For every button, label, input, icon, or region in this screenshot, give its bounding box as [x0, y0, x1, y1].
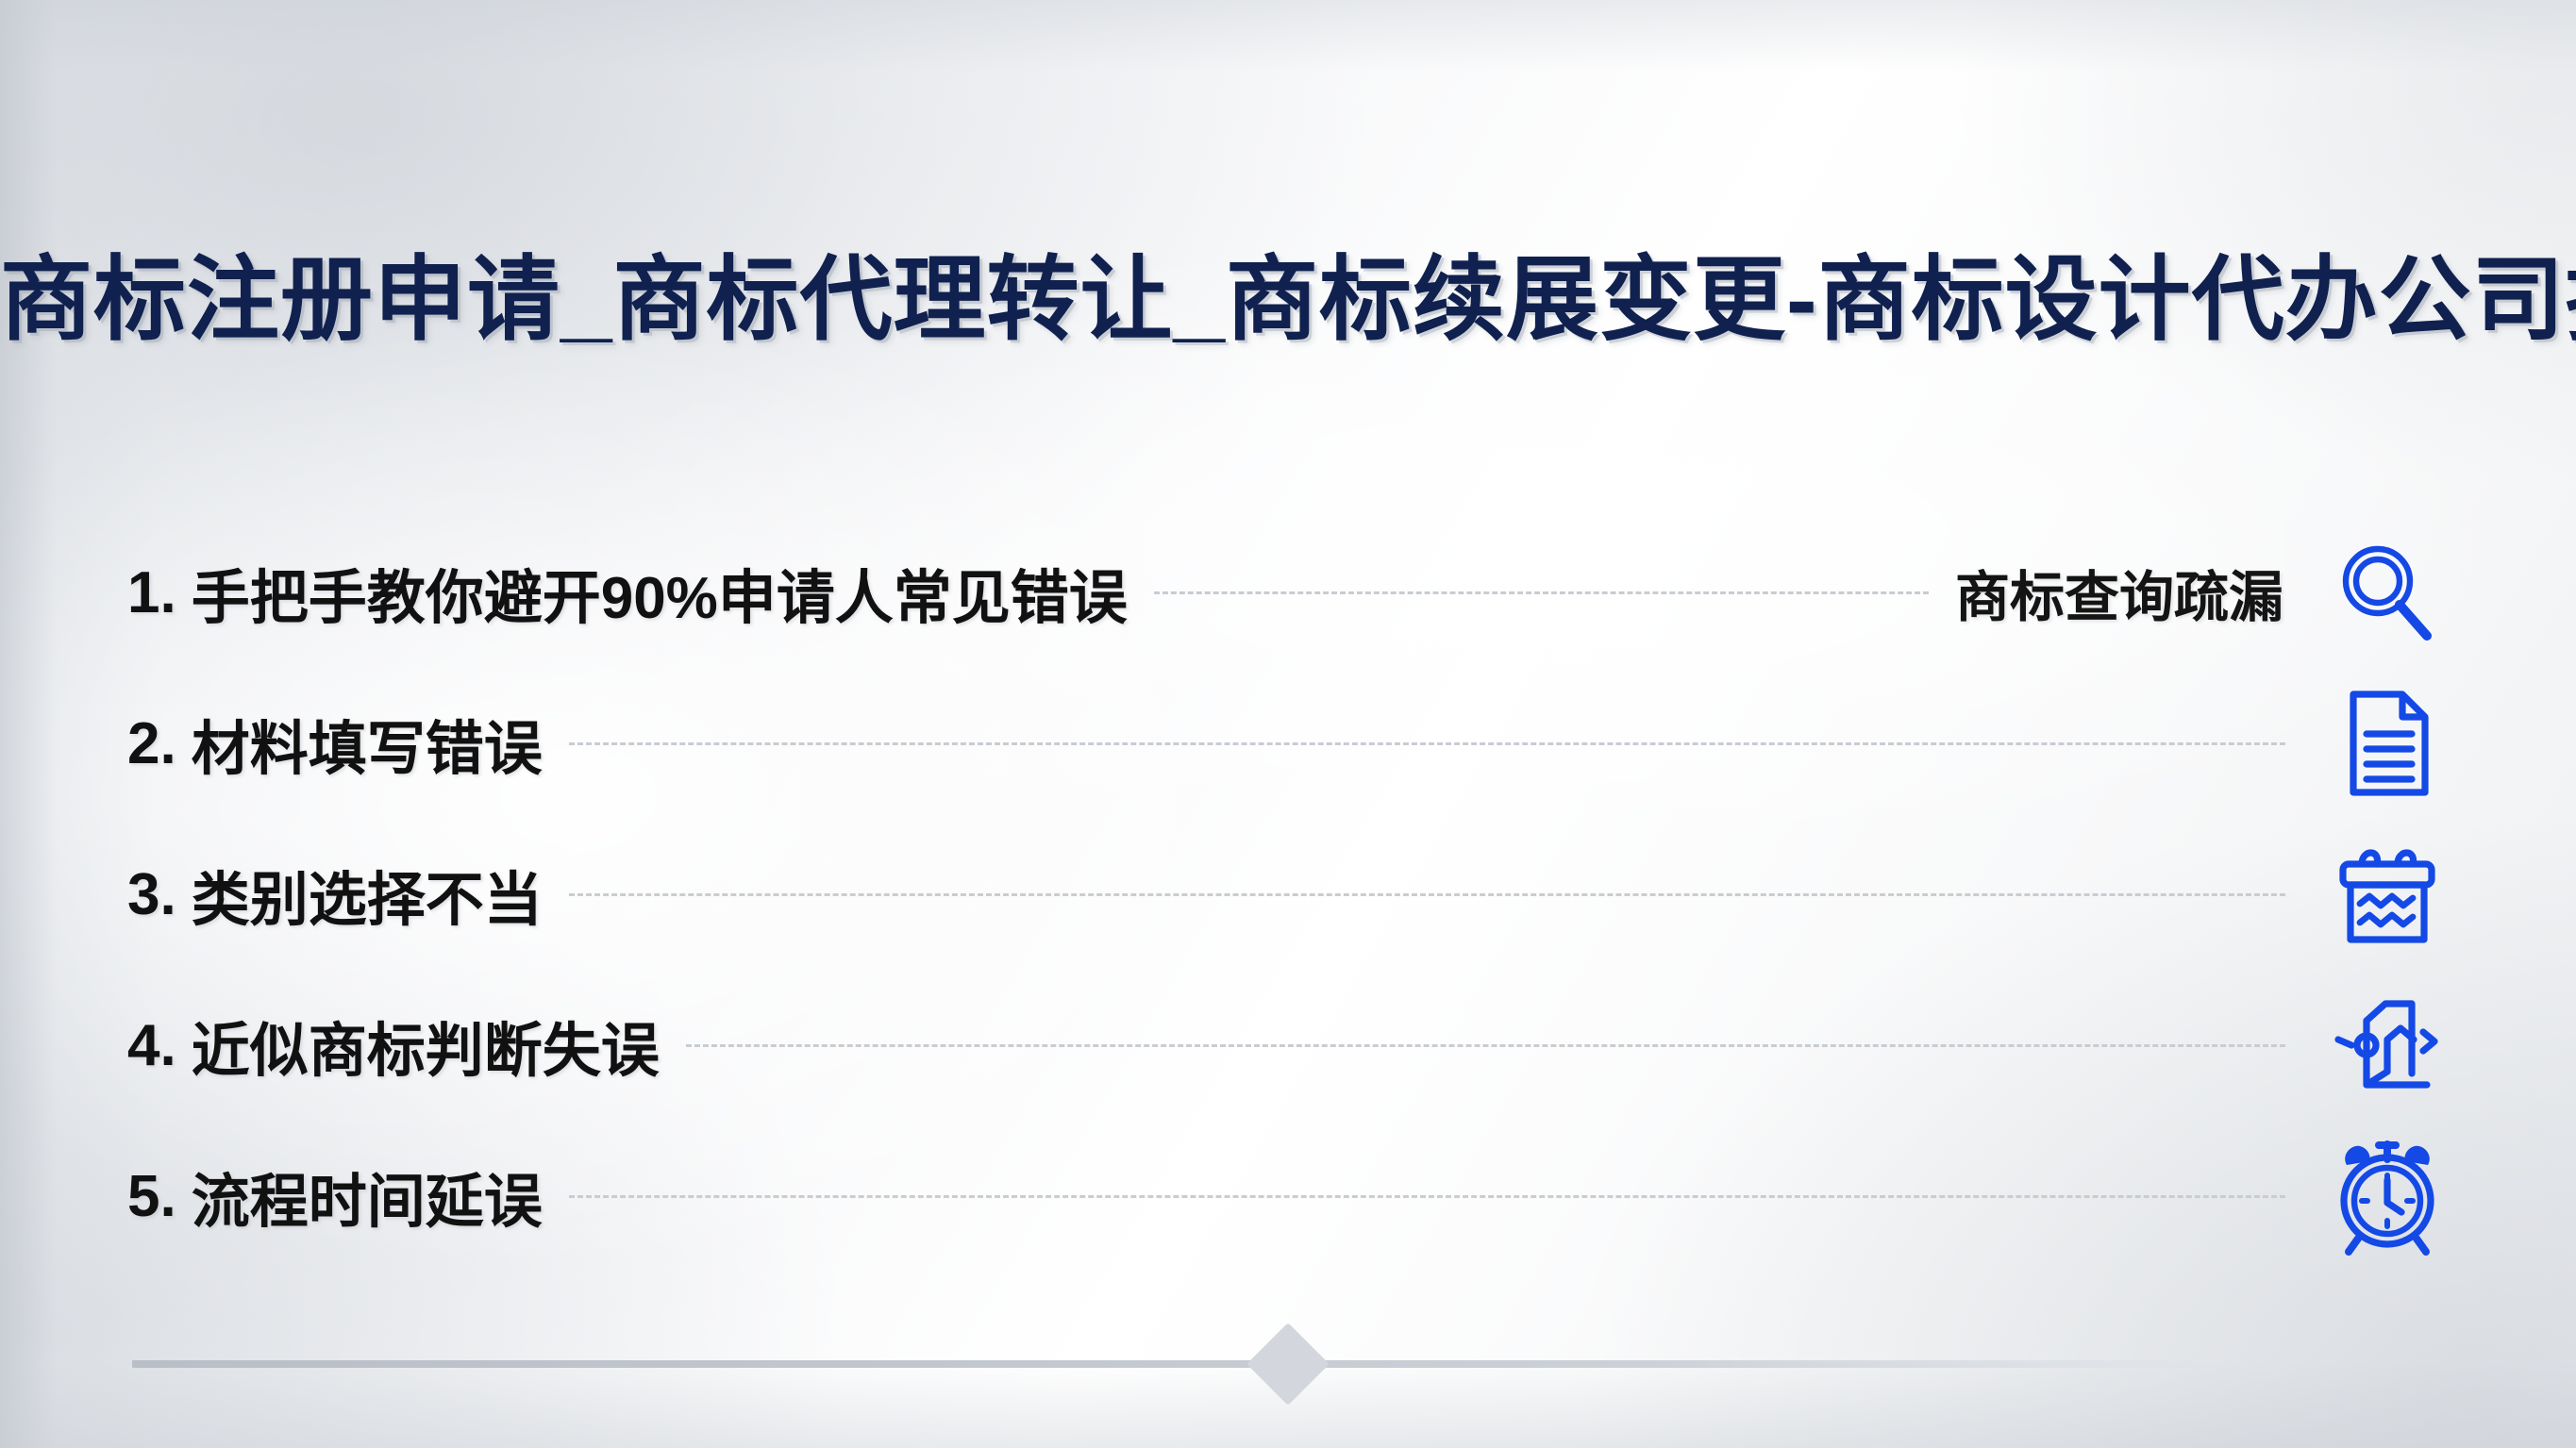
- dot-leader: [569, 742, 2285, 745]
- dot-leader: [569, 893, 2285, 896]
- list-item: 3. 类别选择不当: [127, 819, 2463, 970]
- list-item-number: 2.: [127, 710, 192, 777]
- list-item-label: 材料填写错误: [192, 701, 543, 786]
- document-icon: [2312, 673, 2463, 814]
- bottom-divider-line: [132, 1360, 2238, 1368]
- similar-compare-icon: [2312, 974, 2463, 1116]
- list-item-number: 3.: [127, 861, 192, 928]
- list-item-label: 类别选择不当: [192, 852, 543, 937]
- dot-leader: [1154, 591, 1929, 594]
- page-title: 商标注册申请_商标代理转让_商标续展变更-商标设计代办公司指南: [0, 225, 2576, 358]
- magnifier-icon: [2312, 522, 2463, 663]
- list-item-number: 5.: [127, 1163, 192, 1230]
- list-item-label: 流程时间延误: [192, 1154, 543, 1239]
- list-item: 1. 手把手教你避开90%申请人常见错误 商标查询疏漏: [127, 517, 2463, 668]
- list-item-right-label: 商标查询疏漏: [1955, 553, 2312, 632]
- alarm-clock-icon: [2312, 1125, 2463, 1267]
- list-item-label: 近似商标判断失误: [192, 1003, 660, 1088]
- list-item: 4. 近似商标判断失误: [127, 970, 2463, 1121]
- slide-canvas: 商标注册申请_商标代理转让_商标续展变更-商标设计代办公司指南 1. 手把手教你…: [0, 0, 2576, 1448]
- diamond-marker: [1246, 1323, 1330, 1406]
- list-item: 2. 材料填写错误: [127, 668, 2463, 819]
- list-item-number: 4.: [127, 1012, 192, 1079]
- list-item-number: 1.: [127, 559, 192, 626]
- category-basket-icon: [2312, 824, 2463, 965]
- list-item: 5. 流程时间延误: [127, 1121, 2463, 1272]
- numbered-list: 1. 手把手教你避开90%申请人常见错误 商标查询疏漏 2. 材料填写错误: [127, 517, 2463, 1272]
- list-item-label: 手把手教你避开90%申请人常见错误: [192, 550, 1128, 635]
- dot-leader: [569, 1195, 2285, 1198]
- dot-leader: [686, 1044, 2285, 1047]
